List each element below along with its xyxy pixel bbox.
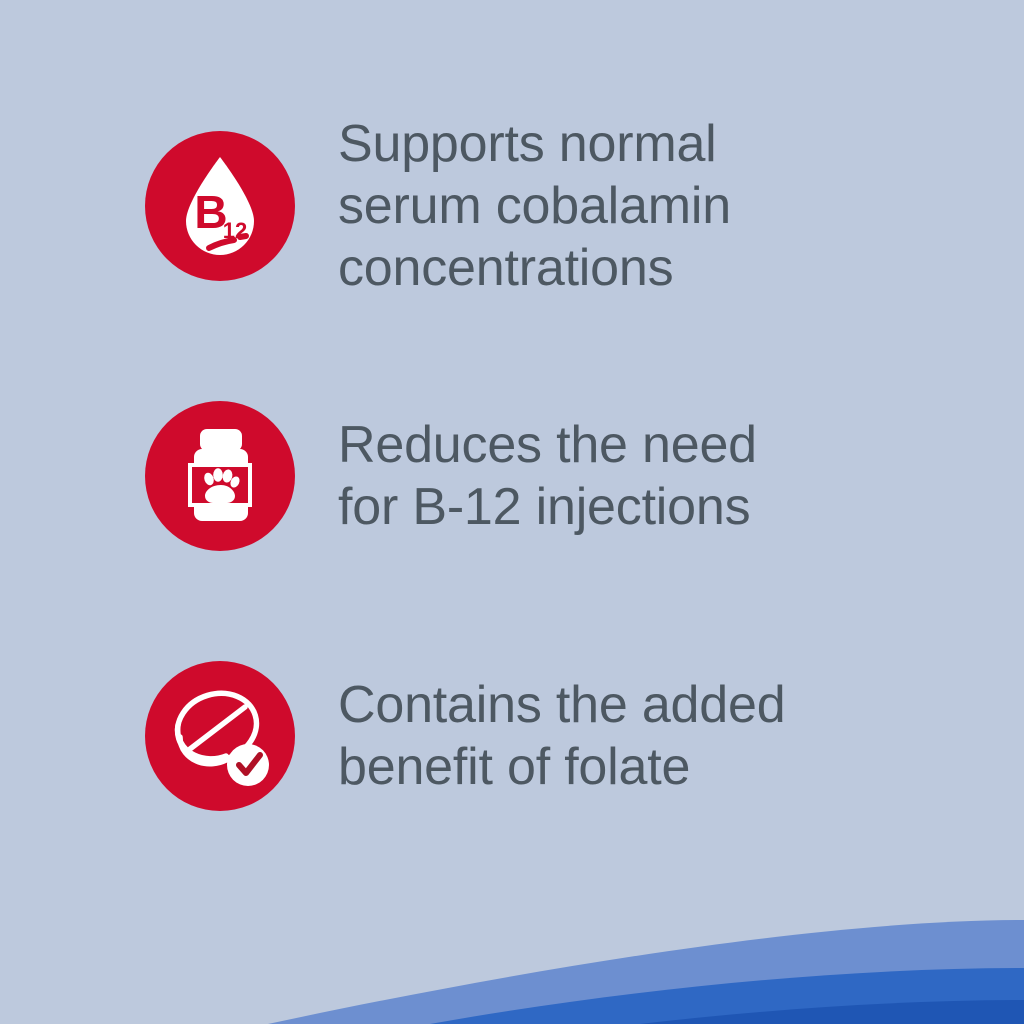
blood-drop-b12-icon: B 12 <box>145 131 295 281</box>
benefit-row: Contains the added benefit of folate <box>145 661 785 811</box>
benefit-row: B 12 Supports normal serum cobalamin con… <box>145 113 731 299</box>
benefit-text: Contains the added benefit of folate <box>338 674 785 798</box>
benefit-icon-badge <box>145 401 295 551</box>
pill-bottle-paw-icon <box>145 401 295 551</box>
tablet-checkmark-icon <box>145 661 295 811</box>
benefit-icon-badge <box>145 661 295 811</box>
benefit-text: Supports normal serum cobalamin concentr… <box>338 113 731 299</box>
benefits-infographic: B 12 Supports normal serum cobalamin con… <box>0 0 1024 1024</box>
benefit-icon-badge: B 12 <box>145 131 295 281</box>
benefit-row: Reduces the need for B-12 injections <box>145 401 757 551</box>
benefit-text: Reduces the need for B-12 injections <box>338 414 757 538</box>
